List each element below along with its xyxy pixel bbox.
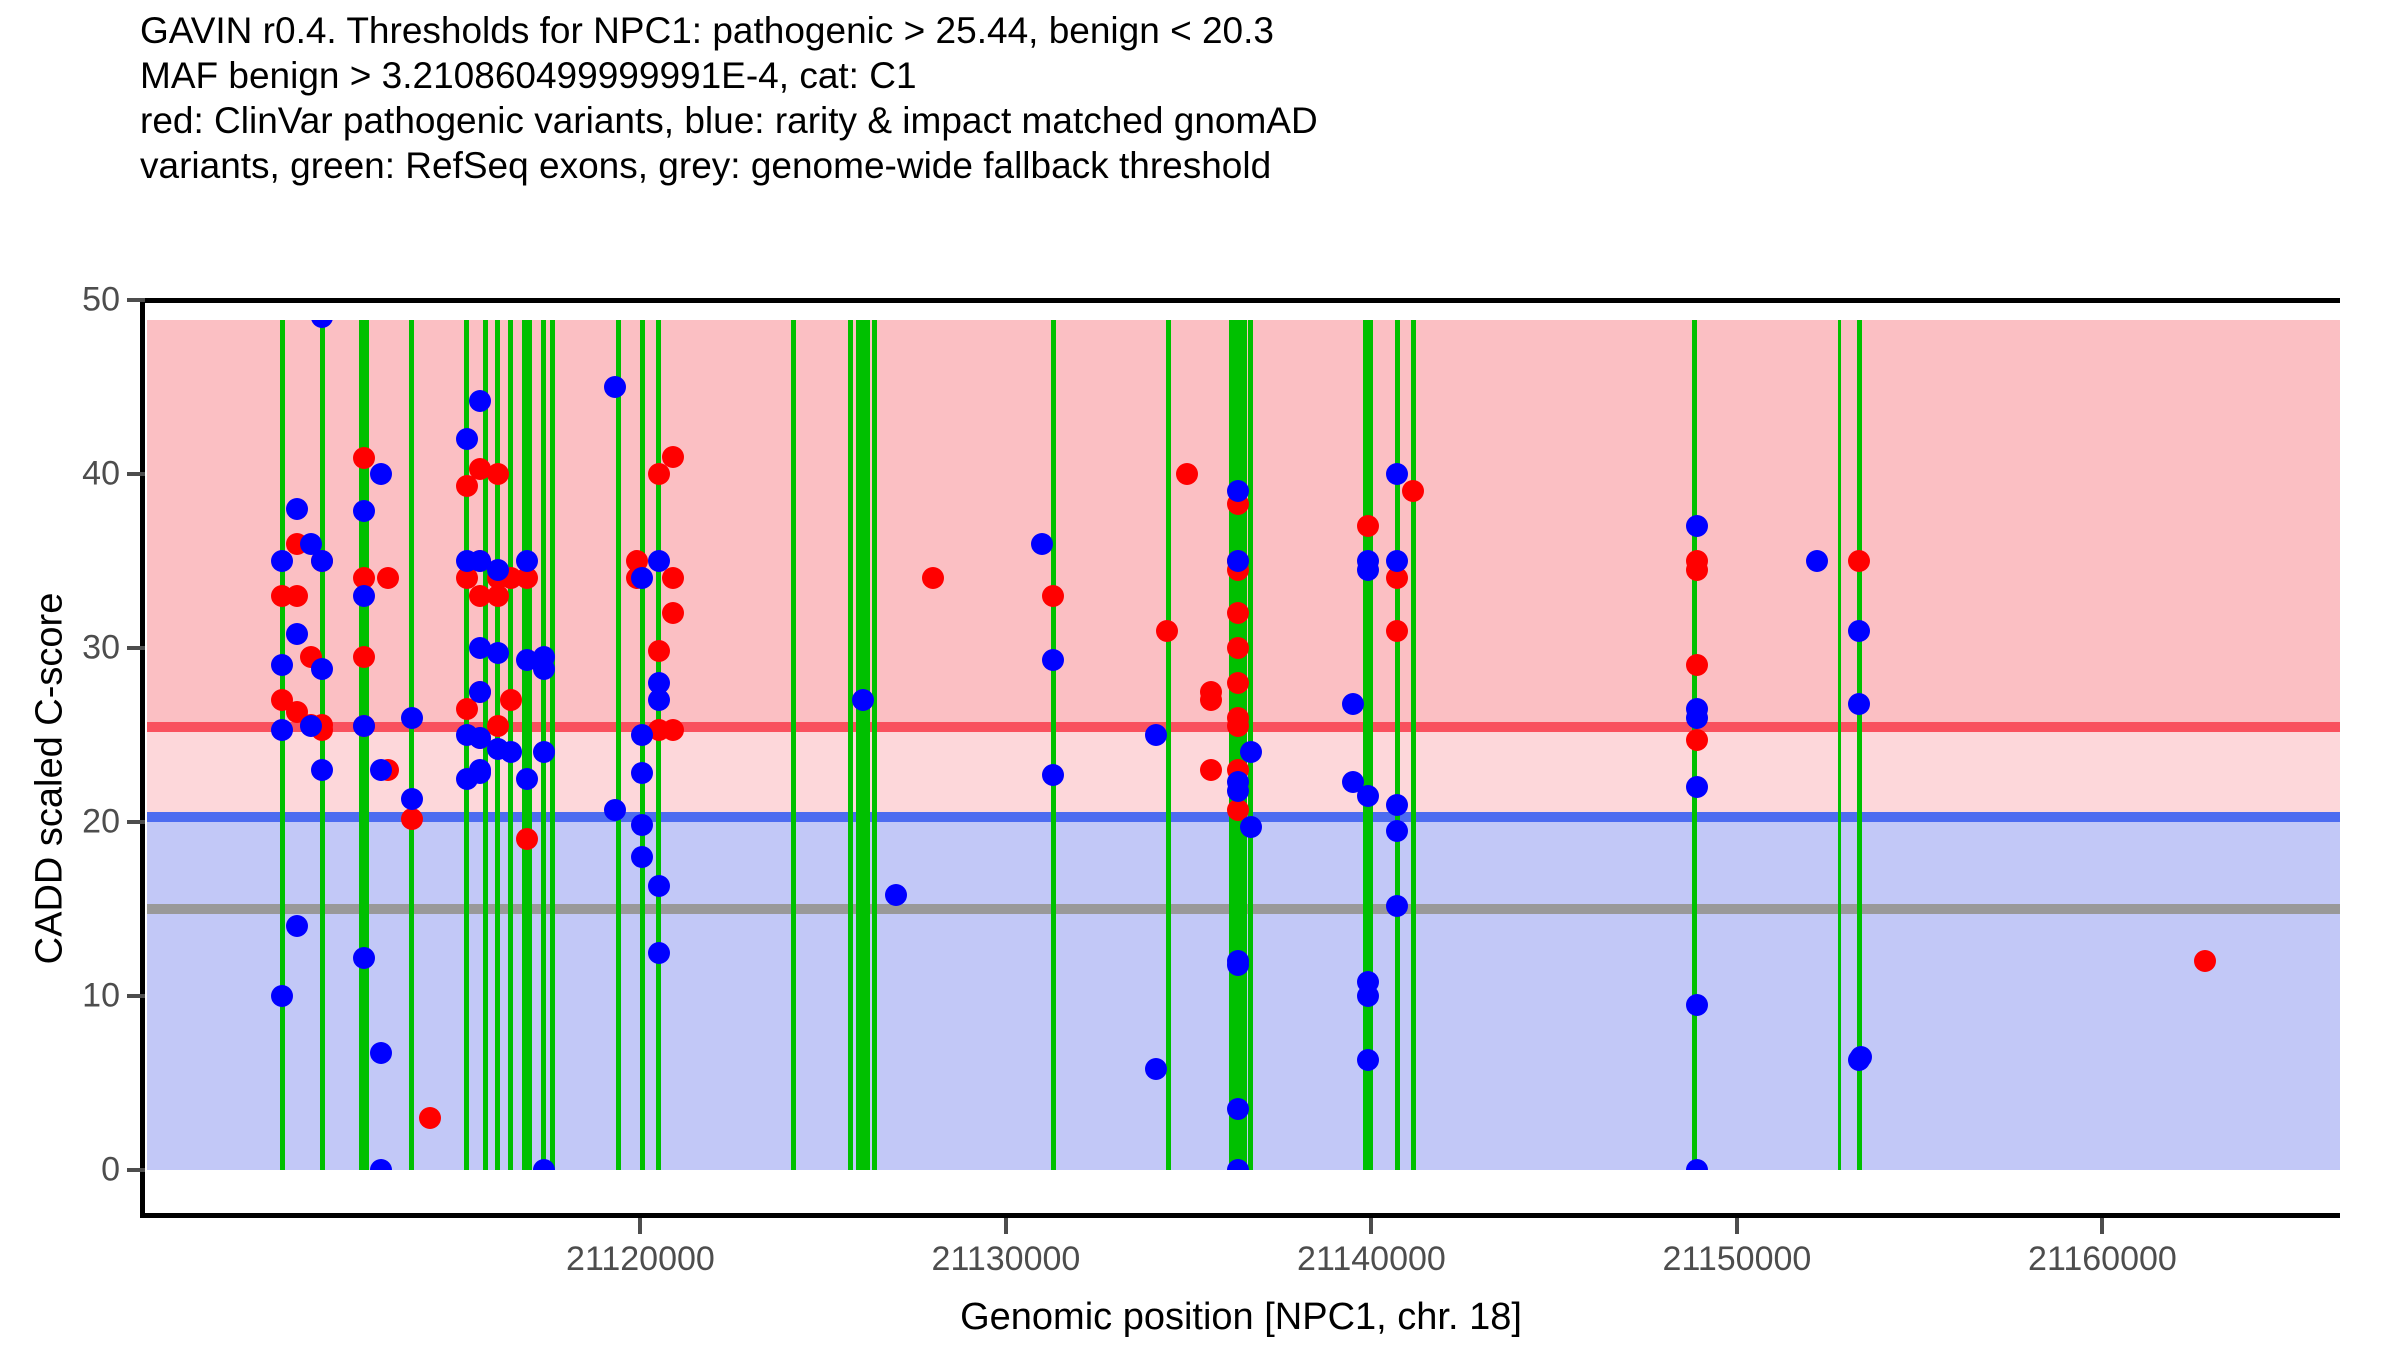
pathogenic-point [1156, 620, 1178, 642]
pathogenic-point [648, 640, 670, 662]
benign-point [604, 376, 626, 398]
benign-point [648, 875, 670, 897]
benign-point [286, 498, 308, 520]
x-axis-tick-label: 21120000 [566, 1240, 715, 1279]
exon-line [791, 320, 796, 1170]
exon-line [1857, 320, 1862, 1170]
pathogenic-point [1200, 689, 1222, 711]
benign-point [1386, 820, 1408, 842]
benign-point [1145, 1058, 1167, 1080]
benign-point [516, 768, 538, 790]
pathogenic-point [353, 646, 375, 668]
benign-point [370, 759, 392, 781]
benign-point [1686, 994, 1708, 1016]
plot-area [147, 320, 2340, 1170]
benign-point [469, 390, 491, 412]
exon-line [522, 320, 532, 1170]
pathogenic-point [1200, 759, 1222, 781]
x-axis-tick [1735, 1218, 1739, 1234]
benign-point [1386, 794, 1408, 816]
benign-point [1848, 693, 1870, 715]
benign-point [1357, 1049, 1379, 1071]
pathogenic-point [2194, 950, 2216, 972]
chart-title-block: GAVIN r0.4. Thresholds for NPC1: pathoge… [140, 8, 2340, 188]
y-axis-tick [127, 298, 145, 302]
exon-line [1166, 320, 1171, 1170]
benign-point [1850, 1046, 1872, 1068]
exon-line [616, 320, 621, 1170]
benign-point [1386, 550, 1408, 572]
benign-point [1357, 785, 1379, 807]
benign-point [469, 762, 491, 784]
title-line-4: variants, green: RefSeq exons, grey: gen… [140, 143, 2340, 188]
benign-point [1145, 724, 1167, 746]
y-axis-tick [127, 472, 145, 476]
pathogenic-point [487, 585, 509, 607]
pathogenic-point [1357, 515, 1379, 537]
benign-point [1848, 620, 1870, 642]
benign-point [1386, 895, 1408, 917]
benign-point [1386, 463, 1408, 485]
x-axis-tick [638, 1218, 642, 1234]
axis-left-line [140, 298, 145, 1218]
pathogenic-point [1686, 729, 1708, 751]
title-line-3: red: ClinVar pathogenic variants, blue: … [140, 98, 2340, 143]
pathogenic-point [1227, 672, 1249, 694]
title-line-2: MAF benign > 3.210860499999991E-4, cat: … [140, 53, 2340, 98]
chart-page: GAVIN r0.4. Thresholds for NPC1: pathoge… [0, 0, 2400, 1350]
exon-line [409, 320, 414, 1170]
y-axis-tick [127, 646, 145, 650]
benign-point [1342, 693, 1364, 715]
y-axis-tick [127, 820, 145, 824]
benign-point [286, 623, 308, 645]
exon-line [856, 320, 870, 1170]
benign-point [271, 719, 293, 741]
x-axis-title: Genomic position [NPC1, chr. 18] [142, 1296, 2340, 1339]
benign-point [1227, 780, 1249, 802]
exon-line [1363, 320, 1373, 1170]
x-axis-tick [1369, 1218, 1373, 1234]
pathogenic-point [1686, 559, 1708, 581]
benign-point [1357, 985, 1379, 1007]
benign-point [1227, 1098, 1249, 1120]
benign-point [487, 559, 509, 581]
pathogenic-point [662, 446, 684, 468]
benign-point [648, 689, 670, 711]
x-axis-tick-label: 21160000 [2028, 1240, 2177, 1279]
exon-line [872, 320, 877, 1170]
axis-top-line [142, 298, 2340, 303]
x-axis-tick-label: 21150000 [1663, 1240, 1812, 1279]
benign-point [533, 741, 555, 763]
title-line-1: GAVIN r0.4. Thresholds for NPC1: pathoge… [140, 8, 2340, 53]
pathogenic-point [1227, 637, 1249, 659]
benign-point [370, 463, 392, 485]
benign-point [1686, 776, 1708, 798]
exon-line [1051, 320, 1056, 1170]
benign-point [500, 741, 522, 763]
pathogenic-point [1686, 654, 1708, 676]
benign-point [516, 550, 538, 572]
benign-point [1240, 816, 1262, 838]
exon-line [1411, 320, 1416, 1170]
benign-point [469, 681, 491, 703]
y-axis-title: CADD scaled C-score [29, 399, 72, 1159]
benign-point [353, 500, 375, 522]
benign-point [631, 846, 653, 868]
x-axis-tick [1004, 1218, 1008, 1234]
pathogenic-point [487, 463, 509, 485]
x-axis-tick [2100, 1218, 2104, 1234]
x-axis-tick-label: 21130000 [932, 1240, 1081, 1279]
benign-point [533, 658, 555, 680]
pathogenic-point [286, 585, 308, 607]
pathogenic-point [419, 1107, 441, 1129]
axis-bottom-line [142, 1213, 2340, 1218]
benign-point [1227, 550, 1249, 572]
benign-point [1686, 515, 1708, 537]
exon-line [280, 320, 285, 1170]
y-axis-tick [127, 1168, 145, 1172]
benign-point [648, 942, 670, 964]
pathogenic-point [1386, 620, 1408, 642]
y-axis-tick [127, 994, 145, 998]
x-axis-tick-label: 21140000 [1297, 1240, 1446, 1279]
exon-line [848, 320, 853, 1170]
benign-point [1686, 707, 1708, 729]
benign-point [1227, 954, 1249, 976]
benign-point [1357, 559, 1379, 581]
benign-point [401, 707, 423, 729]
exon-line [1395, 320, 1400, 1170]
exon-line [320, 320, 325, 1170]
pathogenic-point [662, 719, 684, 741]
benign-point [487, 642, 509, 664]
pathogenic-point [1176, 463, 1198, 485]
y-axis-tick-label: 50 [0, 281, 120, 320]
exon-line [656, 320, 661, 1170]
pathogenic-point [500, 689, 522, 711]
benign-point [648, 550, 670, 572]
benign-point [456, 428, 478, 450]
benign-point [604, 799, 626, 821]
pathogenic-point [401, 808, 423, 830]
benign-point [1031, 533, 1053, 555]
exon-line [1838, 320, 1841, 1170]
